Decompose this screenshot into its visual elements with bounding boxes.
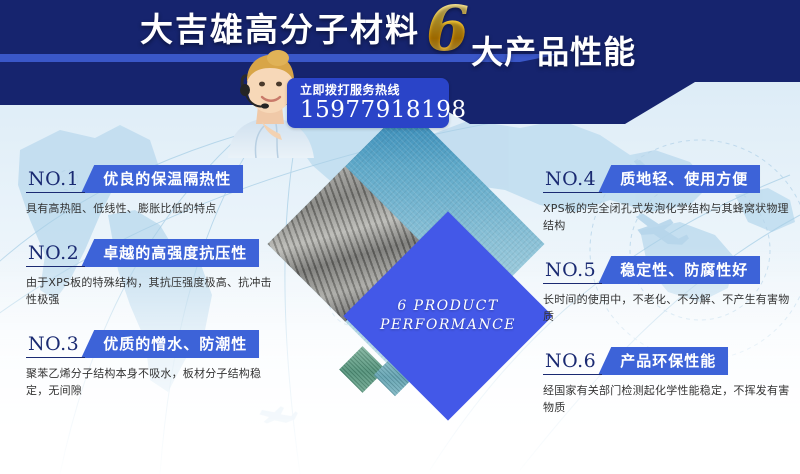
feature-item-6: NO.6 产品环保性能 经国家有关部门检测起化学性能稳定，不挥发有害物质 bbox=[543, 345, 795, 416]
feature-desc-3: 聚苯乙烯分子结构本身不吸水，板材分子结构稳定，无间隙 bbox=[26, 365, 274, 399]
center-caption-line2: PERFORMANCE bbox=[380, 316, 516, 335]
feature-number-3: NO.3 bbox=[26, 333, 85, 358]
promo-banner: 大吉雄高分子材料 6 大产品性能 bbox=[0, 0, 800, 474]
feature-header-2: NO.2 卓越的高强度抗压性 bbox=[26, 237, 288, 267]
feature-item-2: NO.2 卓越的高强度抗压性 由于XPS板的特殊结构，其抗压强度极高、抗冲击性极… bbox=[26, 237, 288, 308]
feature-desc-1: 具有高热阻、低线性、膨胀比低的特点 bbox=[26, 200, 274, 217]
feature-banner-1: 优良的保温隔热性 bbox=[81, 165, 243, 193]
feature-item-1: NO.1 优良的保温隔热性 具有高热阻、低线性、膨胀比低的特点 bbox=[26, 163, 288, 217]
feature-number-2: NO.2 bbox=[26, 242, 85, 267]
page-subtitle: 大产品性能 bbox=[471, 32, 636, 72]
center-diamond-graphic: 6 PRODUCT PERFORMANCE bbox=[288, 138, 540, 413]
feature-number-1: NO.1 bbox=[26, 168, 85, 193]
page-title: 大吉雄高分子材料 bbox=[140, 10, 420, 50]
feature-title-6: 产品环保性能 bbox=[620, 352, 716, 370]
feature-header-1: NO.1 优良的保温隔热性 bbox=[26, 163, 288, 193]
feature-item-3: NO.3 优质的憎水、防潮性 聚苯乙烯分子结构本身不吸水，板材分子结构稳定，无间… bbox=[26, 328, 288, 399]
center-caption-text: 6 PRODUCT PERFORMANCE bbox=[374, 242, 522, 390]
title-number-six: 6 bbox=[426, 0, 469, 60]
feature-desc-2: 由于XPS板的特殊结构，其抗压强度极高、抗冲击性极强 bbox=[26, 274, 274, 308]
feature-banner-4: 质地轻、使用方便 bbox=[598, 165, 760, 193]
feature-title-2: 卓越的高强度抗压性 bbox=[103, 244, 247, 262]
hotline-number: 15977918198 bbox=[300, 97, 449, 124]
feature-item-5: NO.5 稳定性、防腐性好 长时间的使用中，不老化、不分解、不产生有害物质 bbox=[543, 254, 795, 325]
feature-banner-3: 优质的憎水、防潮性 bbox=[81, 330, 259, 358]
feature-banner-5: 稳定性、防腐性好 bbox=[598, 256, 760, 284]
center-caption-diamond: 6 PRODUCT PERFORMANCE bbox=[343, 211, 552, 420]
feature-number-6: NO.6 bbox=[543, 350, 602, 375]
features-column-left: NO.1 优良的保温隔热性 具有高热阻、低线性、膨胀比低的特点 NO.2 卓越的… bbox=[26, 163, 288, 419]
features-column-right: NO.4 质地轻、使用方便 XPS板的完全闭孔式发泡化学结构与其蜂窝状物理结构 … bbox=[543, 163, 795, 436]
feature-desc-4: XPS板的完全闭孔式发泡化学结构与其蜂窝状物理结构 bbox=[543, 200, 791, 234]
feature-header-5: NO.5 稳定性、防腐性好 bbox=[543, 254, 795, 284]
feature-number-5: NO.5 bbox=[543, 259, 602, 284]
feature-banner-6: 产品环保性能 bbox=[598, 347, 728, 375]
feature-title-5: 稳定性、防腐性好 bbox=[620, 261, 748, 279]
feature-desc-5: 长时间的使用中，不老化、不分解、不产生有害物质 bbox=[543, 291, 791, 325]
feature-header-4: NO.4 质地轻、使用方便 bbox=[543, 163, 795, 193]
hotline-box[interactable]: 立即拨打服务热线 15977918198 bbox=[287, 78, 449, 128]
feature-number-4: NO.4 bbox=[543, 168, 602, 193]
feature-title-4: 质地轻、使用方便 bbox=[620, 170, 748, 188]
feature-header-3: NO.3 优质的憎水、防潮性 bbox=[26, 328, 288, 358]
feature-title-3: 优质的憎水、防潮性 bbox=[103, 335, 247, 353]
center-caption-line1: 6 PRODUCT bbox=[397, 297, 498, 316]
hotline-label: 立即拨打服务热线 bbox=[300, 83, 449, 97]
feature-title-1: 优良的保温隔热性 bbox=[103, 170, 231, 188]
feature-desc-6: 经国家有关部门检测起化学性能稳定，不挥发有害物质 bbox=[543, 382, 791, 416]
feature-item-4: NO.4 质地轻、使用方便 XPS板的完全闭孔式发泡化学结构与其蜂窝状物理结构 bbox=[543, 163, 795, 234]
feature-header-6: NO.6 产品环保性能 bbox=[543, 345, 795, 375]
feature-banner-2: 卓越的高强度抗压性 bbox=[81, 239, 259, 267]
